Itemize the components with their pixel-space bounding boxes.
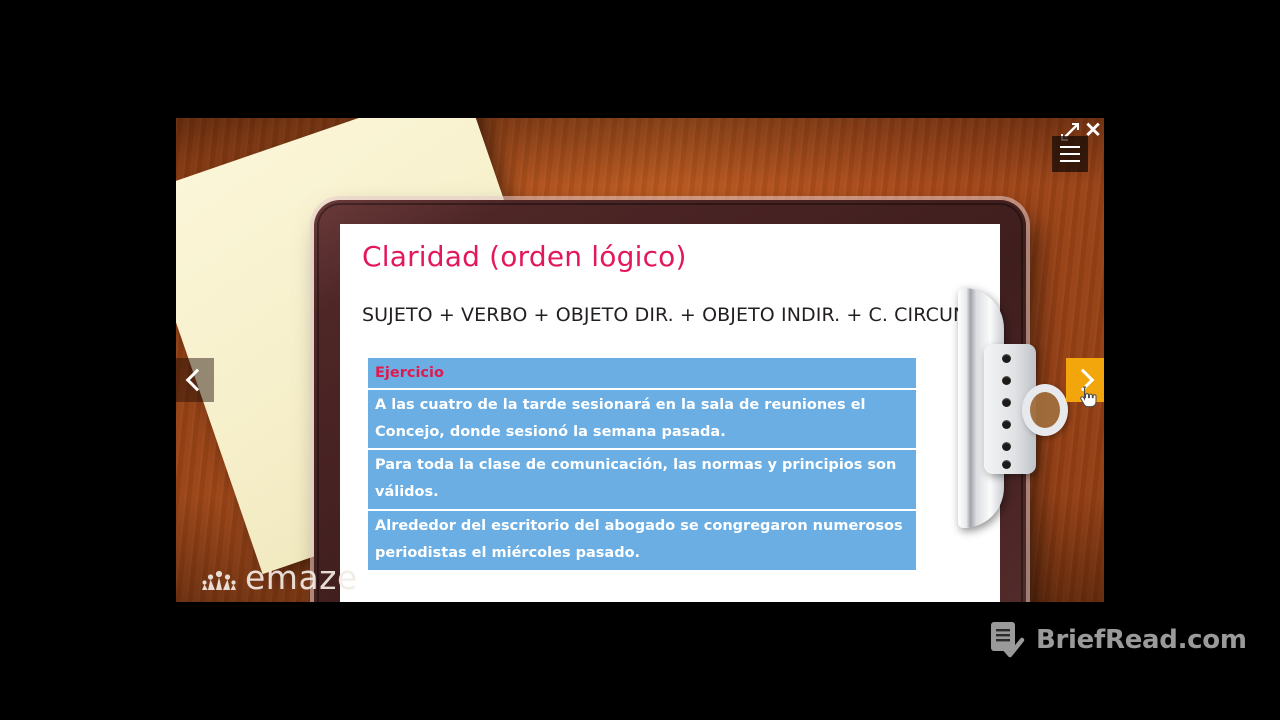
table-row: Alrededor del escritorio del abogado se … [368, 511, 916, 570]
exercise-sentence-3: Alrededor del escritorio del abogado se … [368, 511, 916, 570]
prev-slide-button[interactable] [176, 358, 214, 402]
chevron-left-icon [186, 369, 209, 392]
video-frame[interactable]: Claridad (orden lógico) SUJETO + VERBO +… [176, 118, 1104, 602]
exercise-sentence-1: A las cuatro de la tarde sesionará en la… [368, 390, 916, 449]
table-row-header: Ejercicio [368, 358, 916, 388]
chevron-right-icon [1072, 369, 1095, 392]
table-row: Para toda la clase de comunicación, las … [368, 450, 916, 509]
slide-title: Claridad (orden lógico) [362, 240, 687, 273]
exercise-table-header: Ejercicio [368, 358, 916, 388]
tablet-device-frame: Claridad (orden lógico) SUJETO + VERBO +… [314, 200, 1026, 602]
crumpled-paper-decoration [952, 596, 1000, 602]
slide-formula-line: SUJETO + VERBO + OBJETO DIR. + OBJETO IN… [362, 304, 1000, 326]
table-row: A las cuatro de la tarde sesionará en la… [368, 390, 916, 449]
exercise-table: Ejercicio A las cuatro de la tarde sesio… [368, 356, 916, 572]
watermark-text: BriefRead.com [1036, 625, 1247, 655]
exercise-sentence-2: Para toda la clase de comunicación, las … [368, 450, 916, 509]
emaze-logo-text: emaze [245, 558, 358, 597]
hamburger-line [1060, 153, 1080, 155]
ruler-decoration [958, 288, 1050, 528]
menu-button[interactable] [1052, 136, 1088, 172]
emaze-logo: emaze [202, 558, 358, 597]
briefread-watermark: BriefRead.com [988, 620, 1247, 660]
hamburger-line [1060, 146, 1080, 148]
emaze-fan-icon [202, 565, 236, 591]
presentation-slide: Claridad (orden lógico) SUJETO + VERBO +… [340, 224, 1000, 602]
document-check-icon [988, 620, 1026, 660]
hamburger-line [1060, 160, 1080, 162]
next-slide-button[interactable] [1066, 358, 1104, 402]
video-player-stage: Claridad (orden lógico) SUJETO + VERBO +… [0, 0, 1280, 720]
